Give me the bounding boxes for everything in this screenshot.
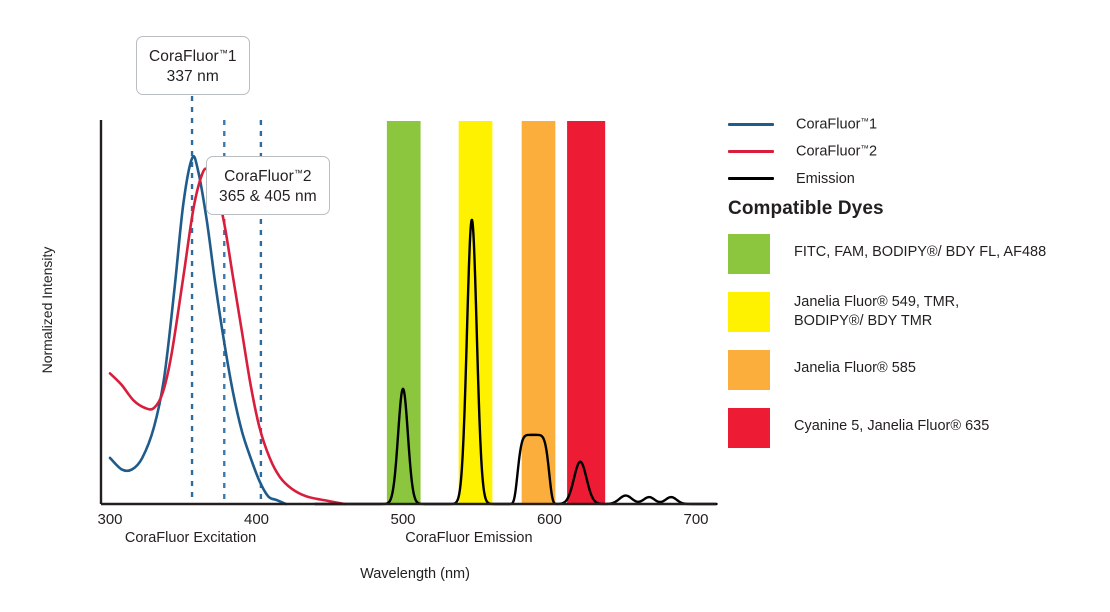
dye-label: Janelia Fluor® 549, TMR, BODIPY®/ BDY TM… bbox=[794, 292, 959, 331]
callout-cf2-name: CoraFluor bbox=[224, 168, 294, 185]
compatible-dyes-heading: Compatible Dyes bbox=[728, 198, 884, 220]
dye-color-swatch bbox=[728, 350, 770, 390]
callout-cf2-index: 2 bbox=[303, 168, 312, 185]
legend-panel: CoraFluor™1CoraFluor™2Emission Compatibl… bbox=[728, 0, 1110, 612]
dye-color-swatch bbox=[728, 408, 770, 448]
y-axis-title: Normalized Intensity bbox=[39, 230, 55, 390]
legend-series-name: Emission bbox=[796, 171, 855, 187]
x-tick-300: 300 bbox=[80, 511, 140, 528]
orange-band bbox=[522, 121, 556, 504]
legend-series-label: CoraFluor™1 bbox=[796, 116, 877, 133]
legend-line-swatch bbox=[728, 150, 774, 153]
dye-label: FITC, FAM, BODIPY®/ BDY FL, AF488 bbox=[794, 234, 1046, 262]
legend-series-row: CoraFluor™1 bbox=[728, 111, 1088, 138]
dye-row: Janelia Fluor® 549, TMR, BODIPY®/ BDY TM… bbox=[728, 292, 1108, 332]
dye-row: Janelia Fluor® 585 bbox=[728, 350, 1108, 390]
callout-corafluor-1: CoraFluor™1 337 nm bbox=[136, 36, 250, 95]
dye-row: Cyanine 5, Janelia Fluor® 635 bbox=[728, 408, 1108, 448]
dye-label: Cyanine 5, Janelia Fluor® 635 bbox=[794, 408, 989, 436]
legend-series-name: CoraFluor bbox=[796, 117, 860, 133]
trademark-icon: ™ bbox=[294, 168, 303, 178]
dye-label: Janelia Fluor® 585 bbox=[794, 350, 916, 378]
x-tick-600: 600 bbox=[520, 511, 580, 528]
red-band bbox=[567, 121, 605, 504]
legend-line-swatch bbox=[728, 123, 774, 126]
curve-emission bbox=[315, 220, 716, 504]
legend-series-label: Emission bbox=[796, 171, 855, 187]
callout-corafluor-2: CoraFluor™2 365 & 405 nm bbox=[206, 156, 330, 215]
x-axis-title: Wavelength (nm) bbox=[0, 566, 830, 582]
green-band bbox=[387, 121, 421, 504]
legend-series-name: CoraFluor bbox=[796, 144, 860, 160]
trademark-icon: ™ bbox=[860, 143, 869, 153]
callout-cf1-line1: CoraFluor™1 bbox=[149, 43, 237, 67]
legend-series-index: 2 bbox=[869, 144, 877, 160]
callout-cf1-wavelength: 337 nm bbox=[149, 67, 237, 87]
trademark-icon: ™ bbox=[860, 116, 869, 126]
trademark-icon: ™ bbox=[219, 48, 228, 58]
dye-color-swatch bbox=[728, 234, 770, 274]
excitation-region-label: CoraFluor Excitation bbox=[101, 530, 281, 546]
legend-series-label: CoraFluor™2 bbox=[796, 143, 877, 160]
legend-series-row: CoraFluor™2 bbox=[728, 138, 1088, 165]
callout-cf1-name: CoraFluor bbox=[149, 48, 219, 65]
callout-cf2-line1: CoraFluor™2 bbox=[219, 163, 317, 187]
dye-row: FITC, FAM, BODIPY®/ BDY FL, AF488 bbox=[728, 234, 1108, 274]
legend-series-index: 1 bbox=[869, 117, 877, 133]
callout-cf2-wavelength: 365 & 405 nm bbox=[219, 187, 317, 207]
callout-cf1-index: 1 bbox=[228, 48, 237, 65]
dye-color-swatch bbox=[728, 292, 770, 332]
compatible-dyes-list: FITC, FAM, BODIPY®/ BDY FL, AF488Janelia… bbox=[728, 234, 1108, 466]
series-legend: CoraFluor™1CoraFluor™2Emission bbox=[728, 111, 1088, 192]
x-tick-400: 400 bbox=[227, 511, 287, 528]
emission-region-label: CoraFluor Emission bbox=[379, 530, 559, 546]
legend-series-row: Emission bbox=[728, 165, 1088, 192]
x-tick-700: 700 bbox=[666, 511, 726, 528]
chart-root: CoraFluor™1 337 nm CoraFluor™2 365 & 405… bbox=[0, 0, 1110, 612]
x-tick-500: 500 bbox=[373, 511, 433, 528]
legend-line-swatch bbox=[728, 177, 774, 180]
spectra-plot: CoraFluor™1 337 nm CoraFluor™2 365 & 405… bbox=[0, 0, 740, 612]
